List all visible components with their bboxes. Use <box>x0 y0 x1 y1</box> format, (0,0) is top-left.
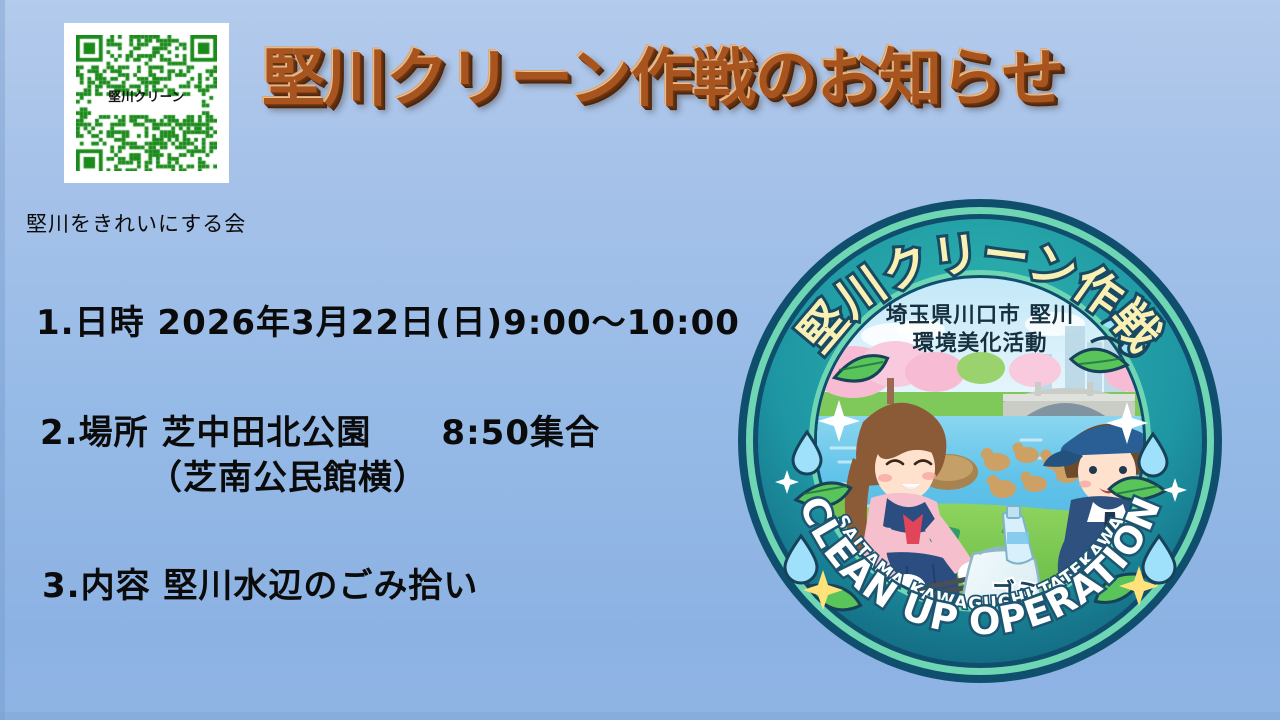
emblem-center-line-1: 埼玉県川口市 堅川 <box>886 302 1075 328</box>
left-edge-band <box>0 0 5 720</box>
detail-line-datetime: 1.日時 2026年3月22日(日)9:00〜10:00 <box>36 295 740 344</box>
page-title: 堅川クリーン作戦のお知らせ <box>262 47 1064 110</box>
qr-code[interactable]: 堅川クリーン <box>64 23 229 183</box>
boy-shoe-right <box>1121 636 1169 660</box>
detail-line-location: 2.場所 芝中田北公園 8:50集合 <box>40 405 600 454</box>
clean-up-operation-emblem: ゴミ 回収 <box>735 196 1225 686</box>
poster-slide: 堅川クリーン 堅川クリーン作戦のお知らせ 堅川をきれいにする会 1.日時 202… <box>0 0 1280 720</box>
qr-code-label: 堅川クリーン <box>64 86 229 105</box>
detail-line-activity: 3.内容 堅川水辺のごみ拾い <box>42 558 478 607</box>
emblem-center-line-2: 環境美化活動 <box>912 330 1047 356</box>
organizer-name: 堅川をきれいにする会 <box>26 208 246 238</box>
bottom-edge-band <box>0 712 1280 720</box>
detail-line-location-sub: （芝南公民館横） <box>148 450 428 499</box>
